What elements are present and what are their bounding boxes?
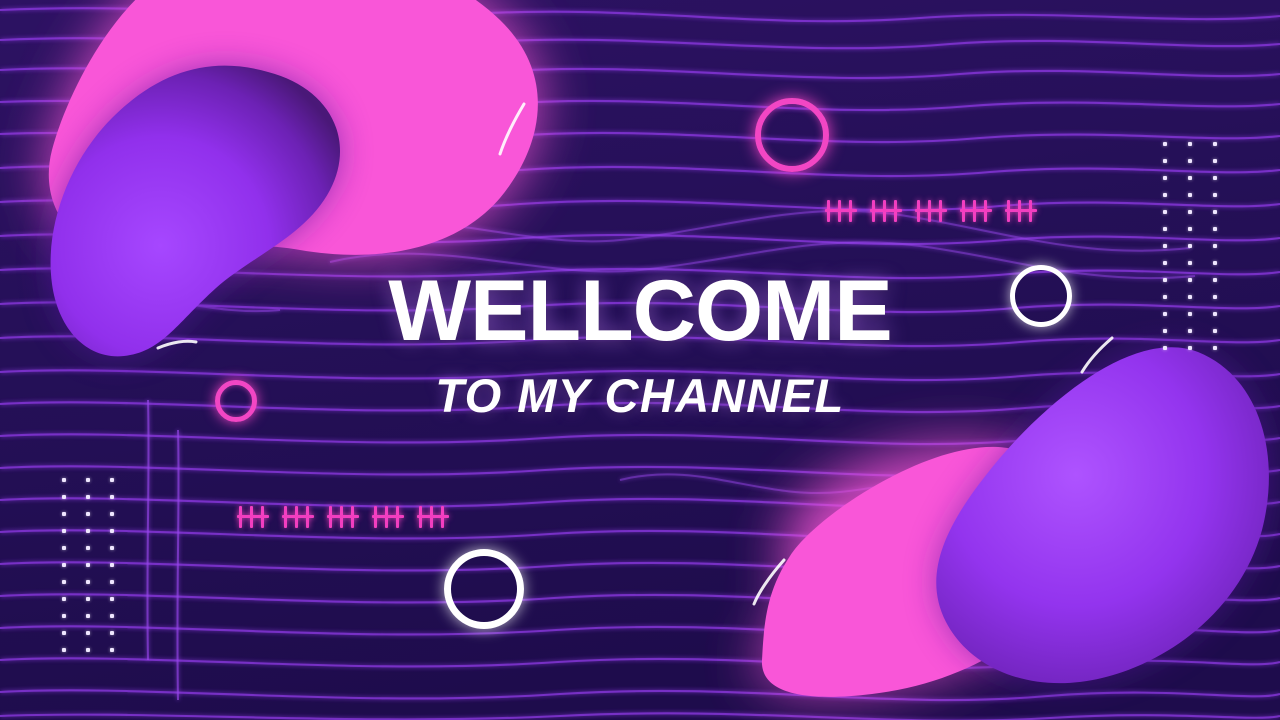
dot [1163, 329, 1167, 333]
dot-grid-right [1163, 142, 1238, 363]
dot [1163, 244, 1167, 248]
background-wave-lines [0, 0, 1280, 720]
dot [110, 563, 114, 567]
dot [1188, 227, 1192, 231]
dot [1188, 244, 1192, 248]
dot [62, 563, 66, 567]
tally-group [282, 506, 314, 528]
dot [62, 597, 66, 601]
dot-grid-left [62, 478, 134, 665]
dot [1163, 210, 1167, 214]
dot [1188, 176, 1192, 180]
dot [86, 478, 90, 482]
ring-white-bottom [444, 549, 524, 629]
dot [86, 580, 90, 584]
dot [1213, 278, 1217, 282]
dot [86, 648, 90, 652]
ring-pink-top [755, 98, 829, 172]
dot [62, 478, 66, 482]
dot [1188, 329, 1192, 333]
dot [62, 580, 66, 584]
tally-group [327, 506, 359, 528]
dot [1213, 227, 1217, 231]
dot [1213, 176, 1217, 180]
dot [1163, 295, 1167, 299]
dot [1163, 261, 1167, 265]
dot [1188, 278, 1192, 282]
dot [1163, 227, 1167, 231]
dot [1213, 295, 1217, 299]
dot [1163, 312, 1167, 316]
dot [110, 614, 114, 618]
dot [62, 631, 66, 635]
dot [86, 546, 90, 550]
dot [110, 580, 114, 584]
dot [86, 512, 90, 516]
dot [1213, 142, 1217, 146]
dot [1213, 346, 1217, 350]
dot [110, 512, 114, 516]
dot [110, 495, 114, 499]
dot [1213, 210, 1217, 214]
dot [1163, 193, 1167, 197]
banner-canvas: WELLCOME TO MY CHANNEL [0, 0, 1280, 720]
dot [110, 478, 114, 482]
tally-marks-top [825, 200, 1037, 222]
dot [110, 648, 114, 652]
tally-marks-bottom [237, 506, 449, 528]
dot [62, 648, 66, 652]
dot [1188, 193, 1192, 197]
dot [110, 546, 114, 550]
tally-group [870, 200, 902, 222]
tally-group [960, 200, 992, 222]
dot [1213, 329, 1217, 333]
dot [110, 631, 114, 635]
dot [86, 597, 90, 601]
tally-group [915, 200, 947, 222]
dot [1213, 244, 1217, 248]
dot [1213, 159, 1217, 163]
dot [1213, 193, 1217, 197]
dot [1163, 278, 1167, 282]
tally-group [372, 506, 404, 528]
dot [1188, 346, 1192, 350]
dot [1188, 159, 1192, 163]
tally-group [417, 506, 449, 528]
dot [1188, 210, 1192, 214]
dot [86, 563, 90, 567]
tally-group [237, 506, 269, 528]
dot [62, 529, 66, 533]
dot [86, 614, 90, 618]
dot [1213, 312, 1217, 316]
dot [110, 597, 114, 601]
dot [1163, 159, 1167, 163]
dot [1163, 142, 1167, 146]
dot [86, 631, 90, 635]
dot [110, 529, 114, 533]
dot [1213, 261, 1217, 265]
dot [1188, 261, 1192, 265]
dot [62, 614, 66, 618]
tally-group [825, 200, 857, 222]
ring-white-right [1010, 265, 1072, 327]
ring-pink-left [215, 380, 257, 422]
dot [1188, 312, 1192, 316]
dot [1188, 142, 1192, 146]
tally-group [1005, 200, 1037, 222]
dot [62, 512, 66, 516]
dot [1163, 346, 1167, 350]
dot [62, 495, 66, 499]
dot [1163, 176, 1167, 180]
dot [62, 546, 66, 550]
dot [1188, 295, 1192, 299]
dot [86, 529, 90, 533]
dot [86, 495, 90, 499]
